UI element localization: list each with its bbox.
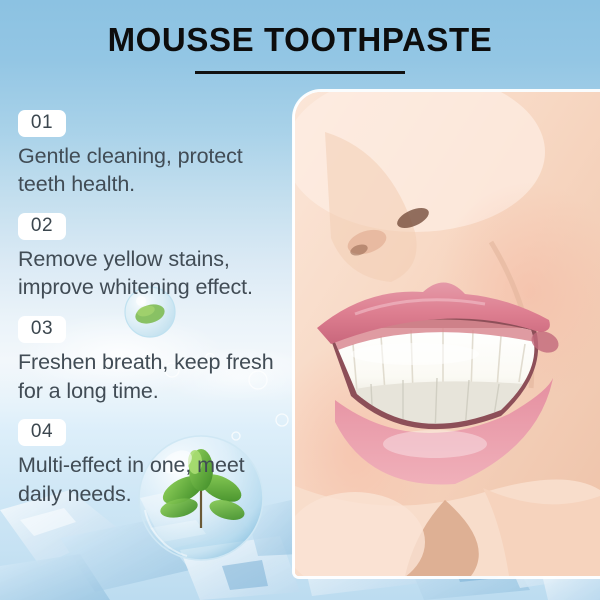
feature-item-04: 04 Multi-effect in one, meet daily needs… [0, 419, 300, 508]
title-divider [195, 71, 405, 74]
feature-item-03: 03 Freshen breath, keep fresh for a long… [0, 316, 300, 405]
feature-text: Remove yellow stains, improve whitening … [18, 245, 300, 302]
feature-number-badge: 02 [18, 213, 66, 240]
feature-text: Freshen breath, keep fresh for a long ti… [18, 348, 300, 405]
smile-photo-illustration [295, 92, 600, 576]
feature-list: 01 Gentle cleaning, protect teeth health… [0, 110, 300, 522]
feature-number-badge: 04 [18, 419, 66, 446]
smile-photo [295, 92, 600, 576]
feature-item-01: 01 Gentle cleaning, protect teeth health… [0, 110, 300, 199]
page-title: MOUSSE TOOTHPASTE [0, 22, 600, 58]
product-poster: MOUSSE TOOTHPASTE 01 Gentle cleaning, pr… [0, 0, 600, 600]
feature-text: Gentle cleaning, protect teeth health. [18, 142, 300, 199]
feature-number-badge: 03 [18, 316, 66, 343]
feature-item-02: 02 Remove yellow stains, improve whiteni… [0, 213, 300, 302]
feature-number-badge: 01 [18, 110, 66, 137]
feature-text: Multi-effect in one, meet daily needs. [18, 451, 300, 508]
